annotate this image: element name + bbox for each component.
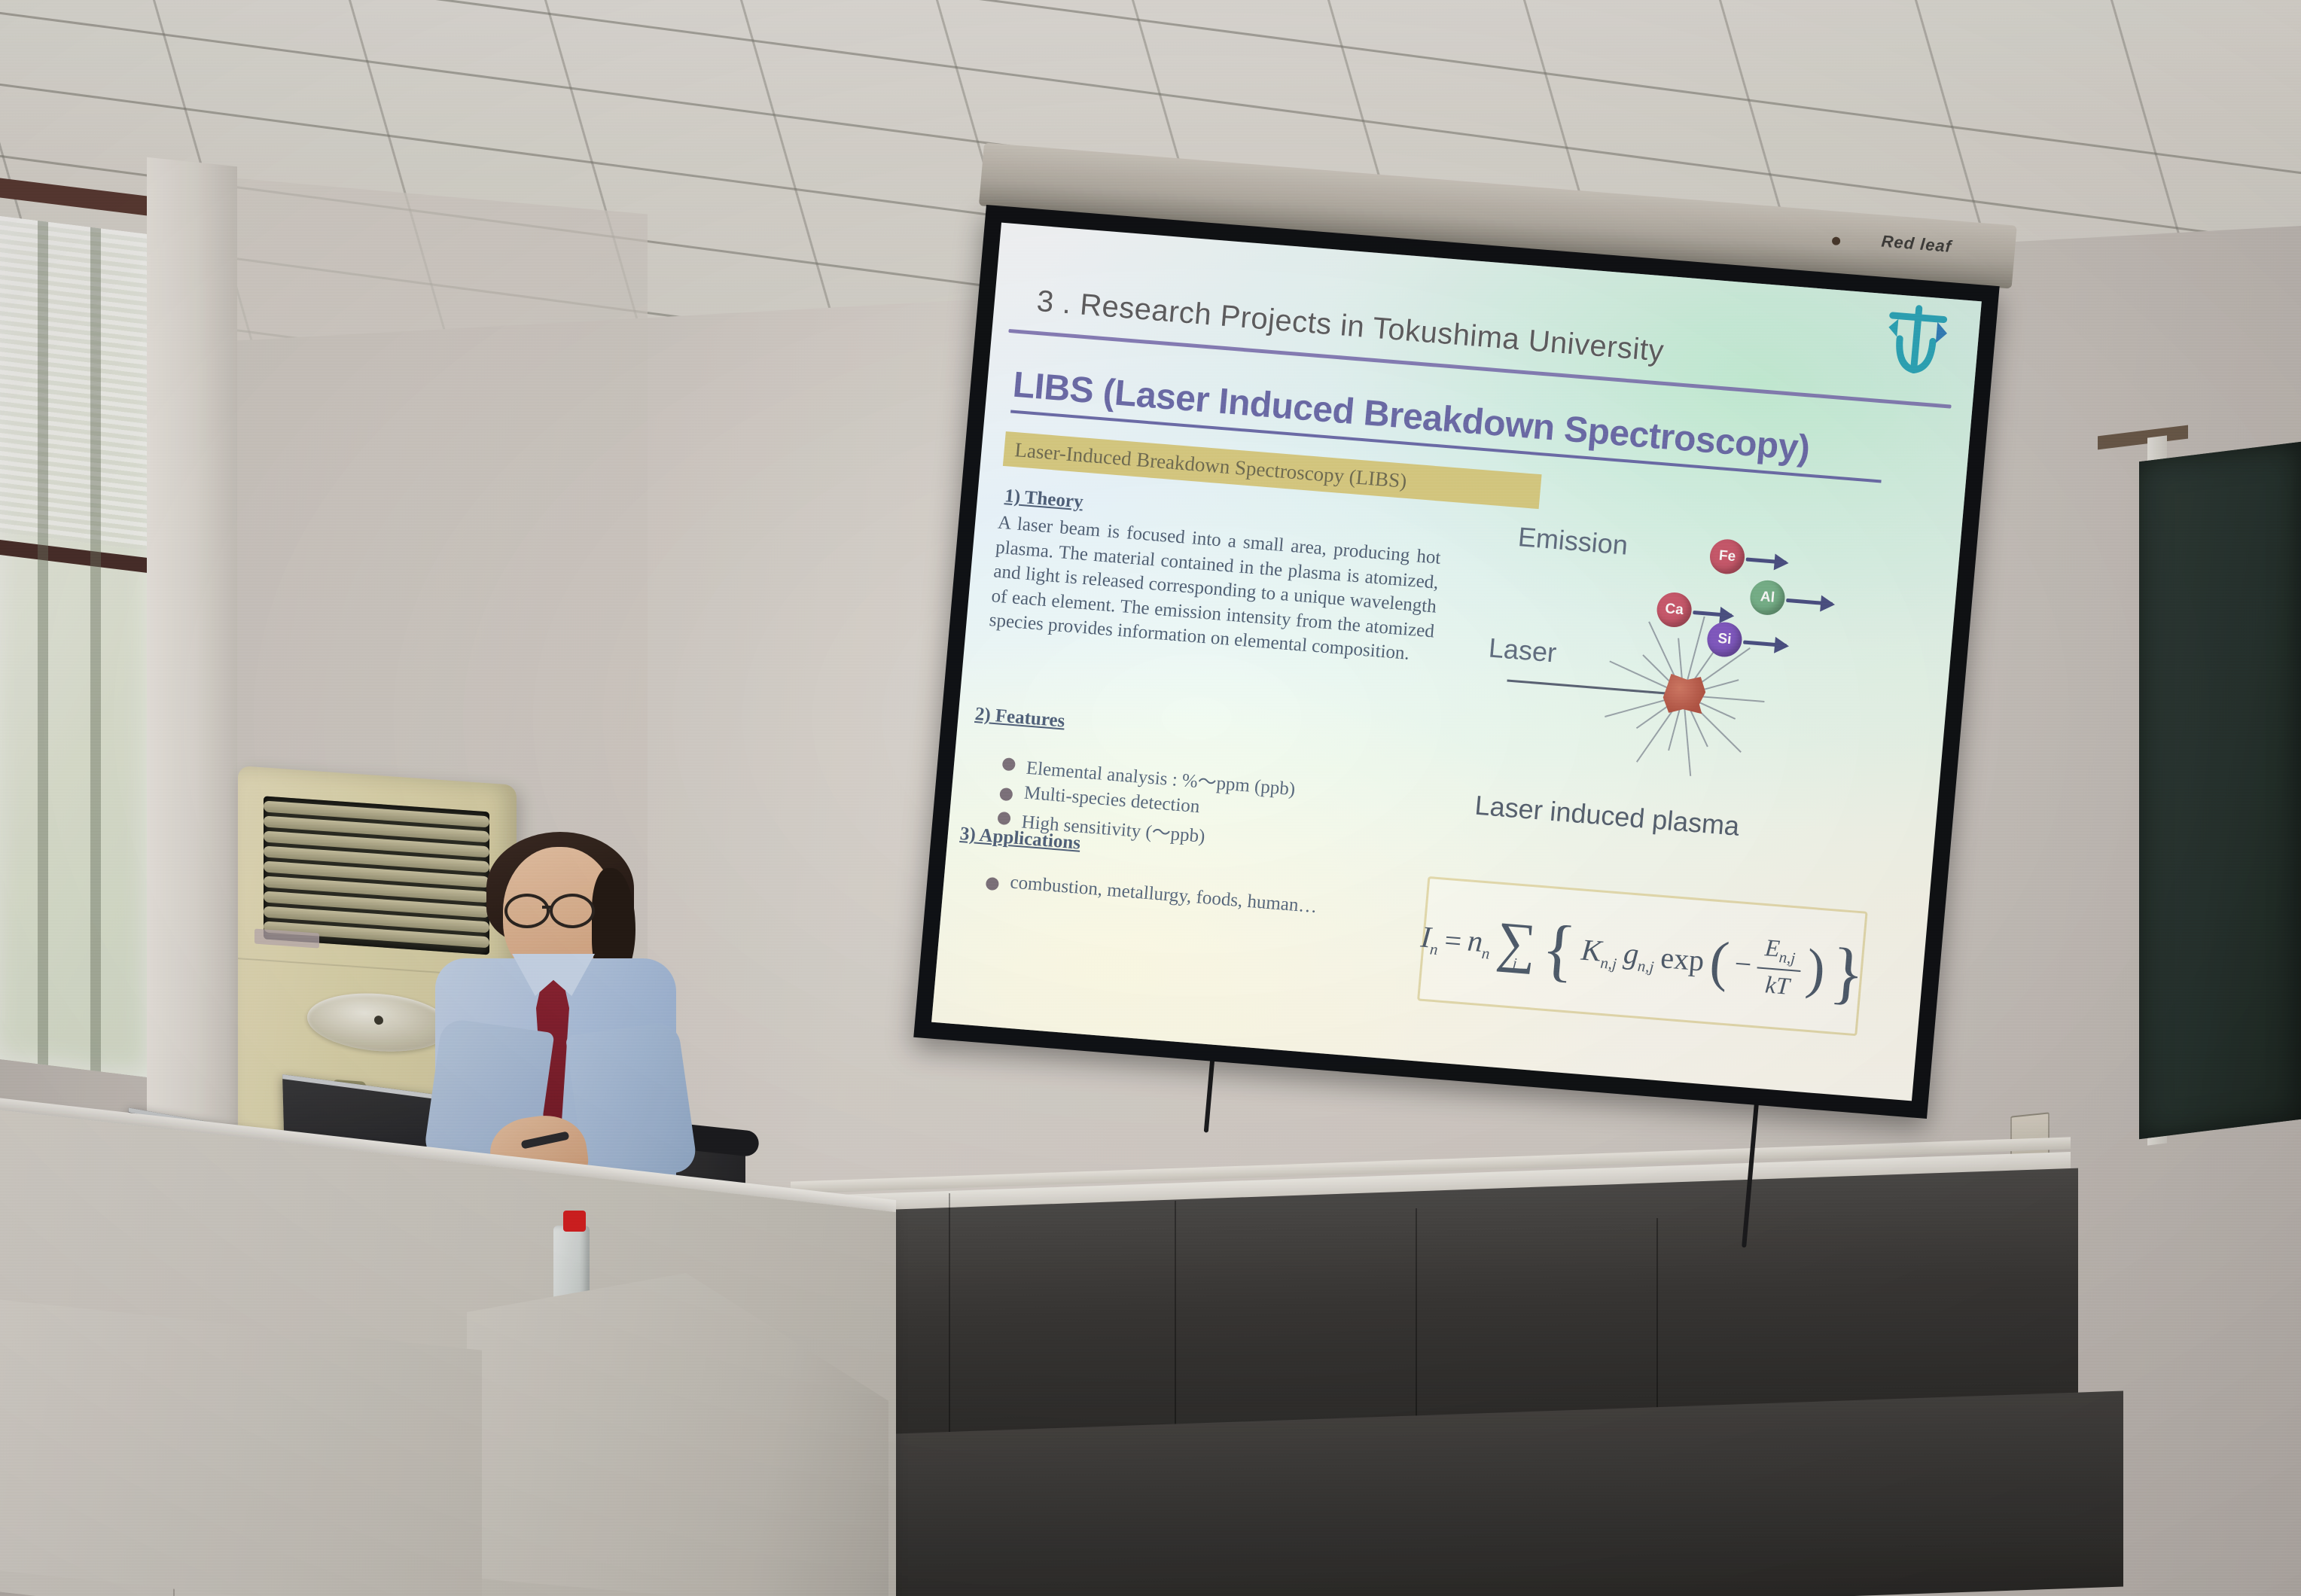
projector-screen: Red leaf 3 . Research Projects in Tokush…: [899, 205, 2000, 1284]
atom-ca-arrow: [1693, 611, 1732, 617]
equation-box: In = nn ∑ j { Kn,j gn,j exp ( −: [1417, 876, 1868, 1036]
eyeglass-lens-left: [504, 894, 550, 928]
eq-summation: ∑ j: [1494, 918, 1538, 973]
laser-beam: [1507, 679, 1668, 694]
screen-brand-label: Red leaf: [1881, 232, 1953, 257]
eq-equals: =: [1443, 923, 1464, 960]
intensity-equation: In = nn ∑ j { Kn,j gn,j exp ( −: [1418, 906, 1867, 1006]
eq-K: K: [1580, 933, 1603, 968]
eq-fraction-numerator: En,j: [1757, 934, 1803, 972]
slide-title: 3 . Research Projects in Tokushima Unive…: [1035, 285, 1856, 384]
laser-label: Laser: [1487, 632, 1557, 669]
left-window: [0, 215, 167, 1080]
lecture-room-scene: Red leaf 3 . Research Projects in Tokush…: [0, 0, 2301, 1596]
wall-column: [147, 157, 237, 1206]
screen-cord-right[interactable]: [1742, 1098, 1759, 1248]
desk-divider: [1175, 1201, 1176, 1442]
eq-g-sub: n,j: [1637, 957, 1655, 976]
desk-divider: [949, 1193, 950, 1434]
eq-paren-open: (: [1708, 942, 1730, 982]
atom-fe: Fe: [1708, 538, 1746, 576]
slide-surface: 3 . Research Projects in Tokushima Unive…: [931, 223, 1982, 1101]
features-heading: 2) Features: [974, 704, 1066, 732]
eq-fraction-denominator: kT: [1758, 968, 1797, 1001]
eyeglasses-icon: [504, 894, 596, 924]
emission-label: Emission: [1516, 521, 1629, 562]
eq-lhs-sub: n: [1429, 940, 1439, 958]
eq-fraction: En,j kT: [1754, 934, 1803, 1001]
eq-brace-open: {: [1540, 924, 1577, 975]
eq-minus: −: [1733, 946, 1754, 982]
atom-al: Al: [1749, 579, 1787, 617]
eyeglass-lens-right: [550, 894, 595, 928]
eq-exp: exp: [1659, 940, 1706, 979]
desk-divider: [1416, 1208, 1417, 1449]
tokushima-university-logo: [1879, 298, 1955, 382]
eq-paren-close: ): [1805, 950, 1827, 991]
eq-K-sub: n,j: [1600, 954, 1618, 973]
atom-al-arrow: [1786, 598, 1833, 606]
eq-brace-close: }: [1829, 947, 1867, 998]
window-mullion-vertical: [38, 221, 48, 1065]
eq-n-sub: n: [1481, 944, 1491, 963]
eq-sum-glyph: ∑: [1495, 921, 1538, 967]
screen-frame: 3 . Research Projects in Tokushima Unive…: [913, 205, 1999, 1119]
atom-fe-arrow: [1746, 557, 1787, 564]
theory-body: A laser beam is focused into a small are…: [988, 511, 1441, 669]
podium-front-panel: [0, 1299, 482, 1596]
plasma-label: Laser induced plasma: [1474, 790, 1741, 842]
window-blinds: [0, 215, 151, 551]
eyeglass-bridge: [542, 906, 553, 909]
chalkboard: [2139, 442, 2301, 1139]
atom-si-arrow: [1743, 640, 1787, 647]
casing-logo-dot: [1832, 236, 1841, 245]
features-list: Elemental analysis : %～ppm (ppb) Multi-s…: [965, 748, 1483, 873]
atom-ca: Ca: [1656, 591, 1693, 629]
libs-diagram: Emission Laser Laser induced plasma Fe A…: [1477, 513, 1926, 869]
theory-heading: 1) Theory: [1004, 486, 1084, 513]
bottle-cap-icon: [563, 1211, 586, 1232]
window-mullion-vertical: [90, 227, 101, 1072]
